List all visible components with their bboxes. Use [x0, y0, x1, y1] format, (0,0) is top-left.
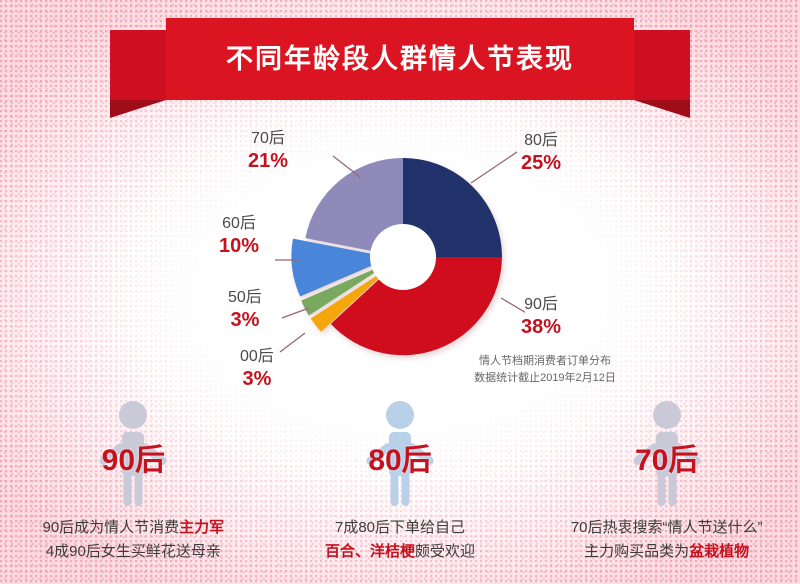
pie-label-00hou: 00后 3% — [240, 348, 274, 390]
ribbon-band: 不同年龄段人群情人节表现 — [166, 18, 634, 100]
ribbon-left-fold — [110, 30, 166, 100]
callout-line-50hou — [282, 308, 309, 318]
summary-column-80hou: 80后 7成80后下单给自己 百合、洋桔梗颇受欢迎 — [267, 398, 534, 584]
summary-text-70hou: 70后热衷搜索“情人节送什么” 主力购买品类为盆栽植物 — [571, 516, 763, 565]
pie-label-80hou-value: 25% — [521, 152, 561, 174]
pie-label-00hou-value: 3% — [240, 368, 274, 390]
pie-label-60hou: 60后 10% — [219, 215, 259, 257]
pie-label-90hou: 90后 38% — [521, 296, 561, 338]
chart-caption-line2: 数据统计截止2019年2月12日 — [455, 370, 635, 387]
page-title: 不同年龄段人群情人节表现 — [226, 46, 574, 73]
pie-label-50hou-name: 50后 — [228, 289, 262, 307]
summary-line1-70hou-prefix: 70后热衷搜索“情人节送什么” — [571, 519, 763, 536]
summary-line2-70hou-highlight: 盆栽植物 — [689, 543, 749, 560]
summary-column-70hou: 70后 70后热衷搜索“情人节送什么” 主力购买品类为盆栽植物 — [533, 398, 800, 584]
chart-caption: 情人节档期消费者订单分布 数据统计截止2019年2月12日 — [455, 353, 635, 386]
summary-line2-80hou: 百合、洋桔梗颇受欢迎 — [325, 540, 475, 564]
summary-columns: 90后 90后成为情人节消费主力军 4成90后女生买鲜花送母亲 — [0, 398, 800, 584]
figure-tag-90hou: 90后 — [91, 446, 175, 476]
summary-line1-80hou: 7成80后下单给自己 — [325, 516, 475, 540]
figure-tag-70hou: 70后 — [625, 446, 709, 476]
summary-line2-70hou-prefix: 主力购买品类为 — [584, 543, 689, 560]
summary-text-80hou: 7成80后下单给自己 百合、洋桔梗颇受欢迎 — [325, 516, 475, 565]
summary-text-90hou: 90后成为情人节消费主力军 4成90后女生买鲜花送母亲 — [42, 516, 224, 565]
summary-line1-90hou: 90后成为情人节消费主力军 — [42, 516, 224, 540]
pie-label-00hou-name: 00后 — [240, 348, 274, 366]
title-ribbon: 不同年龄段人群情人节表现 — [110, 30, 690, 100]
pie-label-70hou-value: 21% — [248, 150, 288, 172]
ribbon-right-fold — [634, 30, 690, 100]
figure-70hou: 70后 — [625, 398, 709, 506]
pie-label-80hou-name: 80后 — [521, 132, 561, 150]
summary-line2-90hou-prefix: 4成90后女生买鲜花送母亲 — [46, 543, 221, 560]
summary-line1-70hou: 70后热衷搜索“情人节送什么” — [571, 516, 763, 540]
infographic-canvas: 不同年龄段人群情人节表现 — [0, 0, 800, 584]
summary-line1-90hou-prefix: 90后成为情人节消费 — [42, 519, 179, 536]
summary-line2-80hou-highlight: 百合、洋桔梗 — [325, 543, 415, 560]
summary-column-90hou: 90后 90后成为情人节消费主力军 4成90后女生买鲜花送母亲 — [0, 398, 267, 584]
callout-line-80hou — [471, 152, 517, 183]
pie-label-50hou-value: 3% — [228, 309, 262, 331]
pie-chart-svg — [275, 140, 525, 370]
figure-80hou: 80后 — [358, 398, 442, 506]
pie-label-80hou: 80后 25% — [521, 132, 561, 174]
summary-line2-70hou: 主力购买品类为盆栽植物 — [571, 540, 763, 564]
figure-tag-80hou: 80后 — [358, 446, 442, 476]
pie-label-60hou-name: 60后 — [219, 215, 259, 233]
summary-line1-80hou-prefix: 7成80后下单给自己 — [335, 519, 465, 536]
donut-hole — [370, 224, 436, 290]
summary-line1-90hou-highlight: 主力军 — [179, 519, 224, 536]
chart-caption-line1: 情人节档期消费者订单分布 — [455, 353, 635, 370]
pie-label-50hou: 50后 3% — [228, 289, 262, 331]
pie-label-70hou-name: 70后 — [248, 130, 288, 148]
callout-line-70hou — [333, 156, 360, 177]
summary-line2-80hou-suffix: 颇受欢迎 — [415, 543, 475, 560]
pie-label-70hou: 70后 21% — [248, 130, 288, 172]
callout-line-00hou — [280, 333, 305, 352]
summary-line2-90hou: 4成90后女生买鲜花送母亲 — [42, 540, 224, 564]
pie-label-90hou-value: 38% — [521, 316, 561, 338]
pie-chart — [275, 140, 525, 370]
figure-90hou: 90后 — [91, 398, 175, 506]
pie-label-60hou-value: 10% — [219, 235, 259, 257]
pie-label-90hou-name: 90后 — [521, 296, 561, 314]
